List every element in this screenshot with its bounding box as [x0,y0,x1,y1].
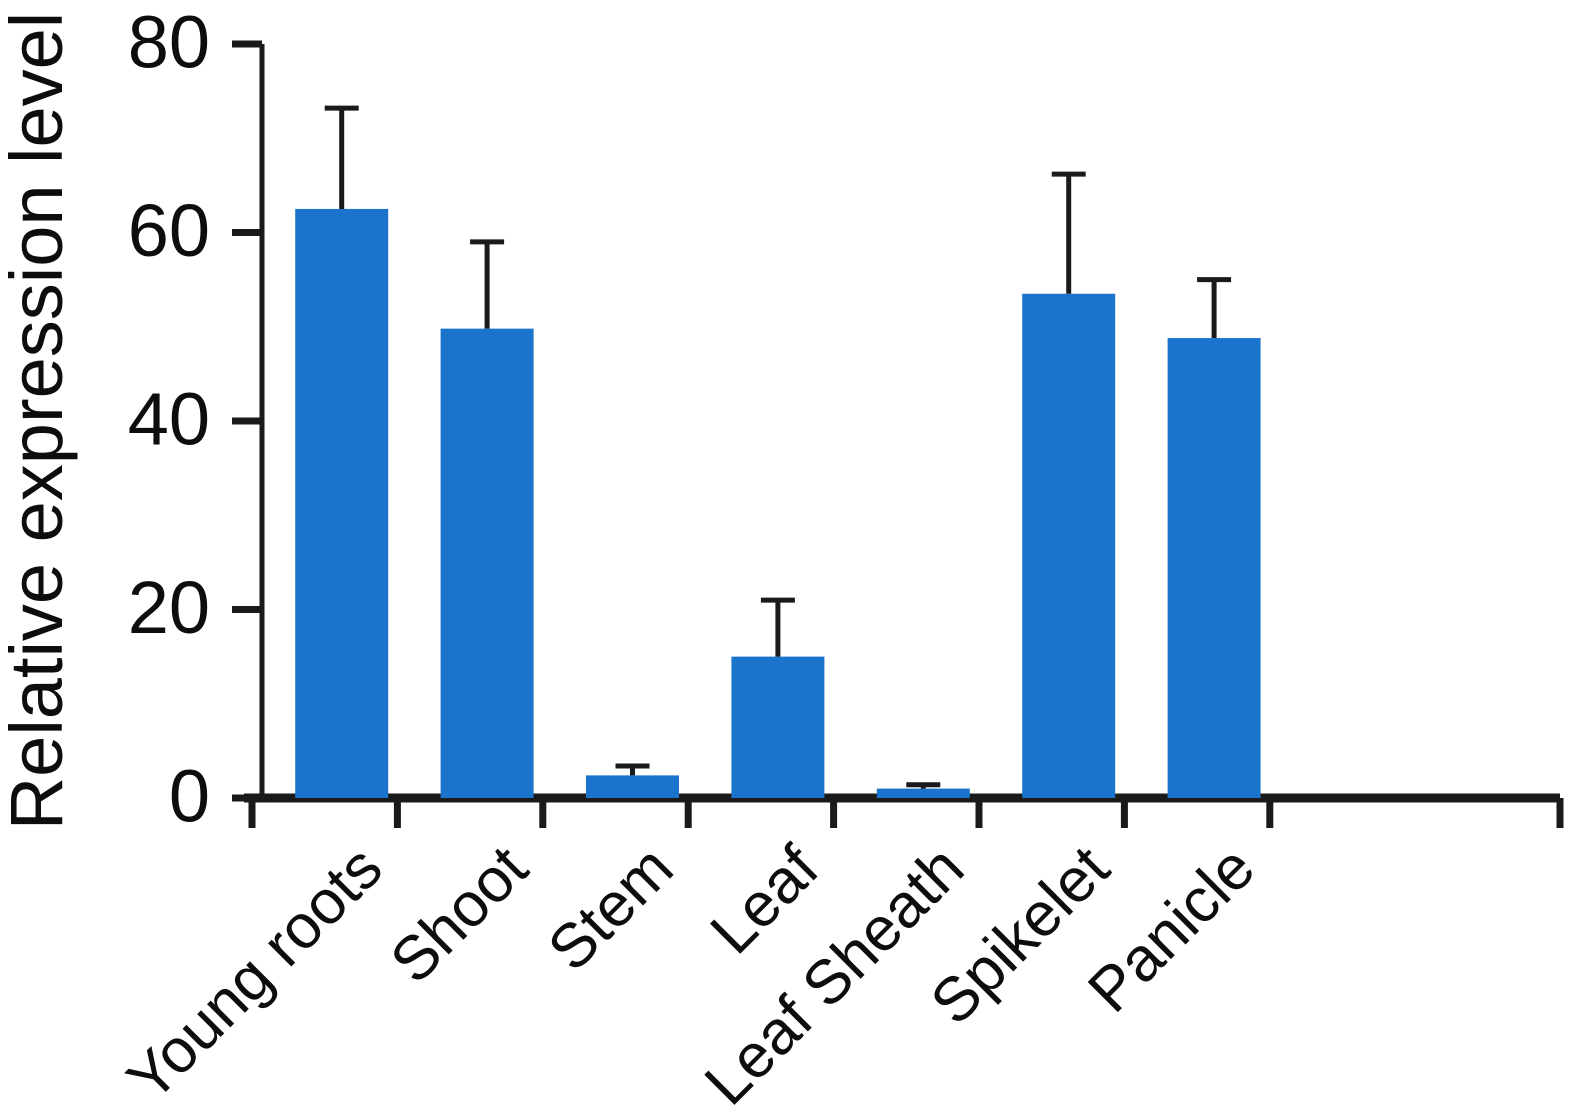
y-axis-tick-label: 20 [128,566,210,649]
bar[interactable] [586,775,679,798]
x-axis-tick-label: Leaf [698,833,833,968]
bar[interactable] [731,657,824,798]
x-axis-tick-label: Shoot [378,833,541,996]
bar[interactable] [1022,294,1115,798]
y-axis-title: Relative expression level [0,12,78,831]
y-axis-tick-label: 80 [128,1,210,84]
bar-chart-canvas: 020406080Young rootsShootStemLeafLeaf Sh… [0,0,1586,1117]
bar[interactable] [441,329,534,798]
y-axis-tick-label: 0 [169,755,210,838]
x-axis-tick-label: Stem [535,833,686,984]
x-axis-tick-label: Panicle [1075,833,1268,1026]
y-axis-tick-label: 40 [128,378,210,461]
bar[interactable] [295,209,388,798]
y-axis-tick-label: 60 [128,189,210,272]
bar[interactable] [1168,338,1261,798]
bar[interactable] [877,789,970,798]
chart-figure: 020406080Young rootsShootStemLeafLeaf Sh… [0,0,1586,1117]
x-axis-tick-label: Young roots [114,833,395,1114]
